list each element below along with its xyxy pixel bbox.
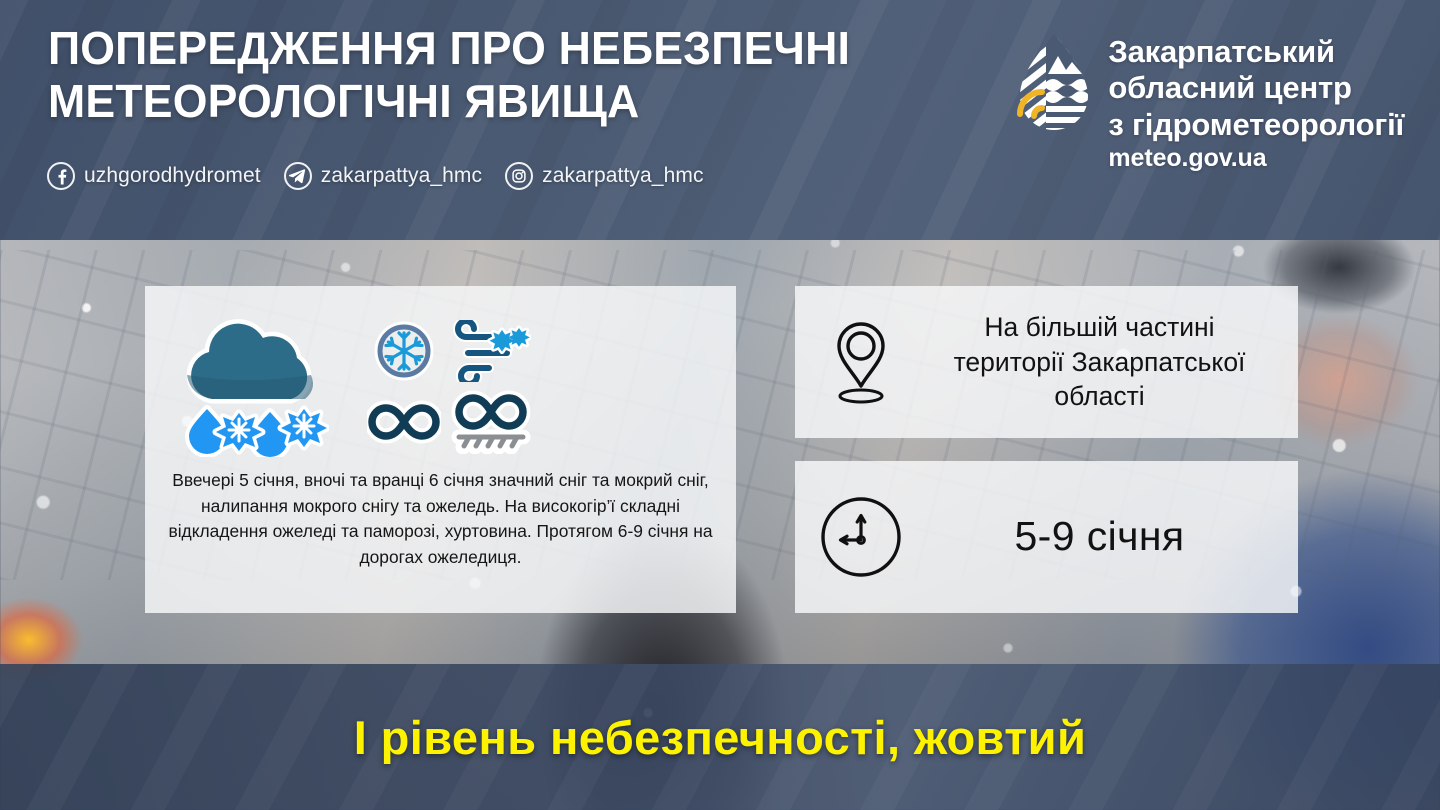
danger-level-text: І рівень небезпечності, жовтий bbox=[354, 710, 1086, 765]
warning-period-panel: 5-9 січня bbox=[795, 461, 1298, 613]
snow-rain-cloud-icon bbox=[167, 317, 329, 457]
location-pin-icon bbox=[828, 318, 894, 406]
danger-level-banner: І рівень небезпечності, жовтий bbox=[0, 664, 1440, 810]
instagram-handle: zakarpattya_hmc bbox=[542, 164, 703, 188]
logo-wordmark: Закарпатський обласний центр з гідромете… bbox=[1108, 30, 1404, 173]
telegram-handle: zakarpattya_hmc bbox=[321, 164, 482, 188]
date-copy: 5-9 січня bbox=[927, 514, 1298, 559]
region-icon-slot bbox=[795, 318, 927, 406]
clock-icon bbox=[819, 495, 903, 579]
date-range-text: 5-9 січня bbox=[927, 514, 1272, 559]
region-text: На більшій частині території Закарпатськ… bbox=[927, 310, 1272, 415]
social-link-instagram[interactable]: zakarpattya_hmc bbox=[505, 162, 703, 190]
logo-line-3: з гідрометеорології bbox=[1108, 107, 1404, 143]
warning-details-panel: Ввечері 5 січня, вночі та вранці 6 січня… bbox=[145, 286, 736, 613]
header-band: Попередження про небезпечні метеорологіч… bbox=[0, 0, 1440, 240]
logo-line-2: обласний центр bbox=[1108, 70, 1404, 106]
social-link-facebook[interactable]: uzhgorodhydromet bbox=[47, 162, 261, 190]
instagram-icon bbox=[505, 162, 533, 190]
social-links: uzhgorodhydromet zakarpattya_hmc bbox=[47, 162, 704, 190]
weather-icon-strip bbox=[145, 312, 736, 462]
logo-website-url: meteo.gov.ua bbox=[1108, 144, 1404, 173]
weather-warning-poster: Попередження про небезпечні метеорологіч… bbox=[0, 0, 1440, 810]
hazard-icon-grid bbox=[363, 316, 537, 458]
facebook-icon bbox=[47, 162, 75, 190]
water-droplet-mountain-logo-icon bbox=[998, 30, 1090, 142]
page-title: Попередження про небезпечні метеорологіч… bbox=[48, 22, 902, 129]
date-icon-slot bbox=[795, 495, 927, 579]
telegram-icon bbox=[284, 162, 312, 190]
warning-body-text: Ввечері 5 січня, вночі та вранці 6 січня… bbox=[163, 468, 718, 570]
blizzard-wind-snow-icon bbox=[451, 320, 531, 382]
page-title-line-1: Попередження про небезпечні bbox=[48, 22, 850, 74]
affected-region-panel: На більшій частині території Закарпатськ… bbox=[795, 286, 1298, 438]
road-ice-icon bbox=[449, 390, 533, 454]
page-title-line-2: метеорологічні явища bbox=[48, 75, 902, 128]
facebook-handle: uzhgorodhydromet bbox=[84, 164, 261, 188]
frost-snowflake-circle-icon bbox=[373, 320, 435, 382]
logo-line-1: Закарпатський bbox=[1108, 34, 1404, 70]
social-link-telegram[interactable]: zakarpattya_hmc bbox=[284, 162, 482, 190]
region-copy: На більшій частині території Закарпатськ… bbox=[927, 310, 1298, 415]
glaze-ice-icon bbox=[367, 396, 441, 448]
organization-logo: Закарпатський обласний центр з гідромете… bbox=[998, 30, 1404, 173]
